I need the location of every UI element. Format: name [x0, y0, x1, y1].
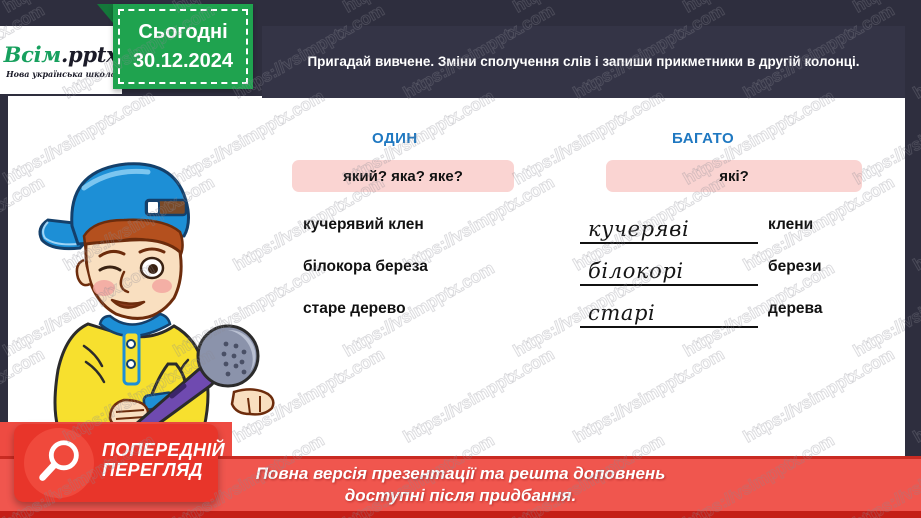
- table-row: кучерявий клен кучеряві клени: [286, 210, 886, 252]
- row-plural-noun: дерева: [768, 300, 823, 318]
- exercise-rows: кучерявий клен кучеряві клени білокора б…: [286, 210, 886, 336]
- handwritten-answer: кучеряві: [588, 217, 689, 241]
- row-singular-phrase: білокора береза: [303, 258, 428, 276]
- brand-name-green: Всім: [4, 42, 61, 67]
- watermark-text: https://vsimpptx.com: [910, 345, 921, 448]
- preview-badge-line-1: ПОПЕРЕДНІЙ: [102, 440, 225, 460]
- watermark-text: https://vsimpptx.com: [680, 0, 838, 17]
- prompt-box-singular: який? яка? яке?: [292, 160, 514, 192]
- date-badge: Сьогодні 30.12.2024: [113, 4, 253, 89]
- answer-blank-line[interactable]: білокорі: [580, 252, 758, 286]
- table-row: старе дерево старі дерева: [286, 294, 886, 336]
- answer-blank-line[interactable]: старі: [580, 294, 758, 328]
- preview-badge-line-2: ПЕРЕГЛЯД: [102, 460, 225, 480]
- boy-with-microphone-illustration: [28, 148, 278, 428]
- column-headings: ОДИН БАГАТО: [286, 130, 886, 160]
- answer-blank-line[interactable]: кучеряві: [580, 210, 758, 244]
- purchase-notice-line-1: Повна версія презентації та решта доповн…: [256, 464, 666, 483]
- row-singular-phrase: старе дерево: [303, 300, 406, 318]
- handwritten-answer: старі: [588, 301, 655, 325]
- column-heading-singular: ОДИН: [372, 130, 418, 147]
- brand-logo-text: Всім.pptx: [4, 42, 119, 67]
- purchase-notice-text: Повна версія презентації та решта доповн…: [256, 463, 666, 507]
- handwritten-answer: білокорі: [588, 259, 684, 283]
- task-instruction-bar: Пригадай вивчене. Зміни сполучення слів …: [262, 26, 905, 98]
- watermark-text: https://vsimpptx.com: [510, 0, 668, 17]
- row-plural-noun: берези: [768, 258, 822, 276]
- row-plural-noun: клени: [768, 216, 813, 234]
- date-badge-date: 30.12.2024: [133, 47, 233, 76]
- prompt-box-plural: які?: [606, 160, 862, 192]
- brand-name-dark: .pptx: [61, 42, 118, 67]
- watermark-text: https://vsimpptx.com: [910, 173, 921, 276]
- question-prompt-row: який? яка? яке? які?: [286, 160, 886, 204]
- exercise-table: ОДИН БАГАТО який? яка? яке? які? кучеряв…: [286, 130, 886, 336]
- row-singular-phrase: кучерявий клен: [303, 216, 424, 234]
- column-heading-plural: БАГАТО: [672, 130, 734, 147]
- brand-subtitle: Нова українська школа: [6, 69, 116, 79]
- purchase-notice-line-2: доступні після придбання.: [345, 486, 576, 505]
- date-badge-label: Сьогодні: [138, 18, 227, 47]
- preview-badge-text: ПОПЕРЕДНІЙ ПЕРЕГЛЯД: [102, 440, 225, 480]
- brand-logo: Всім.pptx Нова українська школа: [0, 26, 122, 94]
- slide-root: Всім.pptx Нова українська школа Сьогодні…: [0, 0, 921, 518]
- task-instruction-text: Пригадай вивчене. Зміни сполучення слів …: [307, 52, 859, 71]
- table-row: білокора береза білокорі берези: [286, 252, 886, 294]
- watermark-text: https://vsimpptx.com: [850, 0, 921, 17]
- watermark-text: https://vsimpptx.com: [910, 1, 921, 104]
- preview-badge[interactable]: ПОПЕРЕДНІЙ ПЕРЕГЛЯД: [14, 424, 218, 502]
- watermark-text: https://vsimpptx.com: [340, 0, 498, 17]
- magnifier-icon: [24, 428, 94, 498]
